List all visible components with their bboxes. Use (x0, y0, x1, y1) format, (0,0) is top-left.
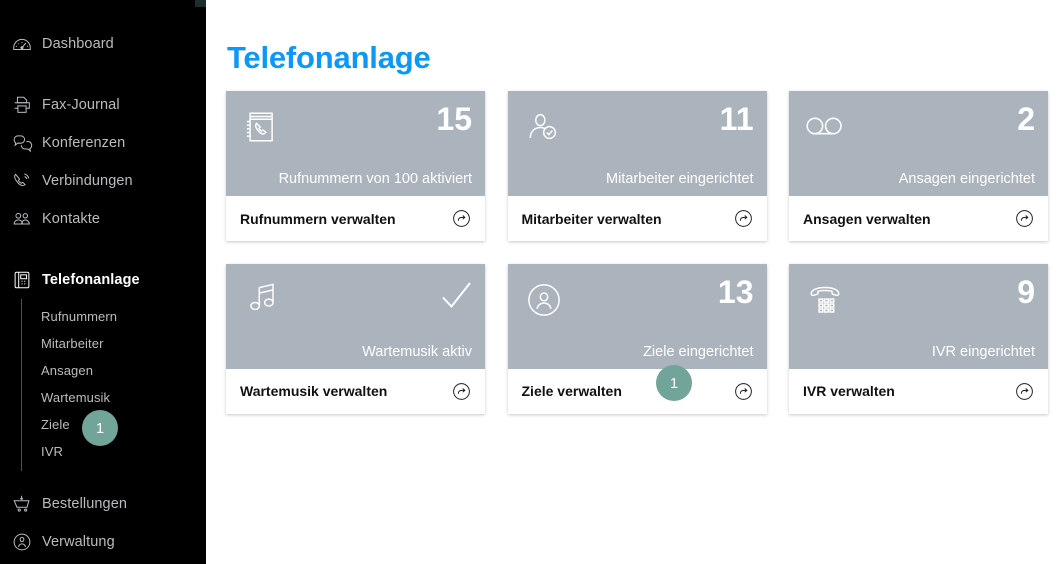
sidebar-subitem-label: Mitarbeiter (41, 336, 104, 351)
card-wartemusik[interactable]: Wartemusik aktiv Wartemusik verwalten (226, 264, 485, 414)
phonebook-icon (240, 105, 284, 149)
sidebar-subitem-ivr[interactable]: IVR (41, 438, 206, 465)
sidebar-item-verwaltung[interactable]: Verwaltung (0, 523, 206, 561)
sidebar-item-dashboard[interactable]: Dashboard (0, 25, 206, 63)
card-value: 15 (436, 100, 472, 138)
card-grid: 15 Rufnummern von 100 aktiviert Rufnumme… (226, 91, 1064, 414)
target-person-icon (522, 278, 566, 322)
sidebar-item-label: Verbindungen (42, 173, 133, 189)
keypad-phone-icon (803, 278, 847, 322)
sidebar-item-label: Konferenzen (42, 135, 125, 151)
card-subtitle: Wartemusik aktiv (362, 344, 472, 360)
card-action[interactable]: Wartemusik verwalten (226, 369, 485, 414)
sidebar-item-label: Verwaltung (42, 534, 115, 550)
app-root: Dashboard Fax-Journal Konferen (0, 0, 1064, 564)
card-header: 15 Rufnummern von 100 aktiviert (226, 91, 485, 196)
card-header: Wartemusik aktiv (226, 264, 485, 369)
page-title: Telefonanlage (227, 40, 431, 76)
printer-icon (9, 93, 35, 117)
card-action-label: IVR verwalten (803, 383, 1014, 399)
card-value: 9 (1017, 273, 1035, 311)
sidebar-subitem-mitarbeiter[interactable]: Mitarbeiter (41, 330, 206, 357)
arrow-right-circle-icon[interactable] (733, 381, 754, 402)
sidebar-item-telefonanlage[interactable]: Telefonanlage (0, 261, 206, 299)
card-header: 13 Ziele eingerichtet (508, 264, 767, 369)
scrollbar-thumb[interactable] (195, 0, 206, 7)
arrow-right-circle-icon[interactable] (451, 381, 472, 402)
arrow-right-circle-icon[interactable] (451, 208, 472, 229)
sidebar-subitem-ansagen[interactable]: Ansagen (41, 357, 206, 384)
phone-signal-icon (9, 169, 35, 193)
user-circle-icon (9, 530, 35, 554)
sidebar-item-label: Telefonanlage (42, 272, 140, 288)
sidebar-item-konferenzen[interactable]: Konferenzen (0, 124, 206, 162)
sidebar-subitem-label: IVR (41, 444, 63, 459)
card-ivr[interactable]: 9 IVR eingerichtet IVR verwalten (789, 264, 1048, 414)
sidebar-subitem-label: Rufnummern (41, 309, 117, 324)
main-content: Telefonanlage 15 Rufnummern von 100 akti… (206, 0, 1064, 564)
sidebar-subitem-wartemusik[interactable]: Wartemusik (41, 384, 206, 411)
card-value: 11 (720, 100, 754, 138)
arrow-right-circle-icon[interactable] (1014, 381, 1035, 402)
sidebar-subitem-rufnummern[interactable]: Rufnummern (41, 303, 206, 330)
card-subtitle: Ansagen eingerichtet (899, 171, 1035, 187)
sidebar-item-label: Kontakte (42, 211, 100, 227)
sidebar-item-label: Bestellungen (42, 496, 127, 512)
card-action[interactable]: Mitarbeiter verwalten (508, 196, 767, 241)
desk-phone-icon (9, 268, 35, 292)
sidebar-subitem-label: Ansagen (41, 363, 93, 378)
card-action-label: Wartemusik verwalten (240, 383, 451, 399)
card-rufnummern[interactable]: 15 Rufnummern von 100 aktiviert Rufnumme… (226, 91, 485, 241)
card-action[interactable]: Rufnummern verwalten (226, 196, 485, 241)
user-check-icon (522, 105, 566, 149)
card-action[interactable]: Ziele verwalten (508, 369, 767, 414)
sidebar-item-fax-journal[interactable]: Fax-Journal (0, 86, 206, 124)
check-icon (439, 280, 473, 314)
card-subtitle: Ziele eingerichtet (643, 344, 753, 360)
arrow-right-circle-icon[interactable] (733, 208, 754, 229)
chat-bubbles-icon (9, 131, 35, 155)
card-subtitle: Mitarbeiter eingerichtet (606, 171, 754, 187)
arrow-right-circle-icon[interactable] (1014, 208, 1035, 229)
sidebar: Dashboard Fax-Journal Konferen (0, 0, 206, 564)
card-action-label: Mitarbeiter verwalten (522, 211, 733, 227)
card-value: 13 (718, 273, 754, 311)
sidebar-item-label: Fax-Journal (42, 97, 120, 113)
card-subtitle: Rufnummern von 100 aktiviert (279, 171, 472, 187)
card-action-label: Ansagen verwalten (803, 211, 1014, 227)
sidebar-item-bestellungen[interactable]: Bestellungen (0, 485, 206, 523)
sidebar-subnav: Rufnummern Mitarbeiter Ansagen Wartemusi… (21, 299, 206, 471)
card-ansagen[interactable]: 2 Ansagen eingerichtet Ansagen verwalten (789, 91, 1048, 241)
card-ziele[interactable]: 13 Ziele eingerichtet Ziele verwalten (508, 264, 767, 414)
voicemail-icon (803, 111, 847, 155)
sidebar-item-kontakte[interactable]: Kontakte (0, 200, 206, 238)
contacts-icon (9, 207, 35, 231)
card-value: 2 (1017, 100, 1035, 138)
sidebar-subitem-label: Wartemusik (41, 390, 110, 405)
music-note-icon (240, 278, 284, 322)
gauge-icon (9, 32, 35, 56)
sidebar-subitem-ziele[interactable]: Ziele (41, 411, 206, 438)
sidebar-item-verbindungen[interactable]: Verbindungen (0, 162, 206, 200)
card-header: 2 Ansagen eingerichtet (789, 91, 1048, 196)
shopping-cart-icon (9, 492, 35, 516)
card-mitarbeiter[interactable]: 11 Mitarbeiter eingerichtet Mitarbeiter … (508, 91, 767, 241)
card-subtitle: IVR eingerichtet (932, 344, 1035, 360)
card-action[interactable]: Ansagen verwalten (789, 196, 1048, 241)
card-action[interactable]: IVR verwalten (789, 369, 1048, 414)
sidebar-item-label: Dashboard (42, 36, 114, 52)
sidebar-subitem-label: Ziele (41, 417, 70, 432)
card-header: 11 Mitarbeiter eingerichtet (508, 91, 767, 196)
card-header: 9 IVR eingerichtet (789, 264, 1048, 369)
card-action-label: Rufnummern verwalten (240, 211, 451, 227)
card-action-label: Ziele verwalten (522, 383, 733, 399)
